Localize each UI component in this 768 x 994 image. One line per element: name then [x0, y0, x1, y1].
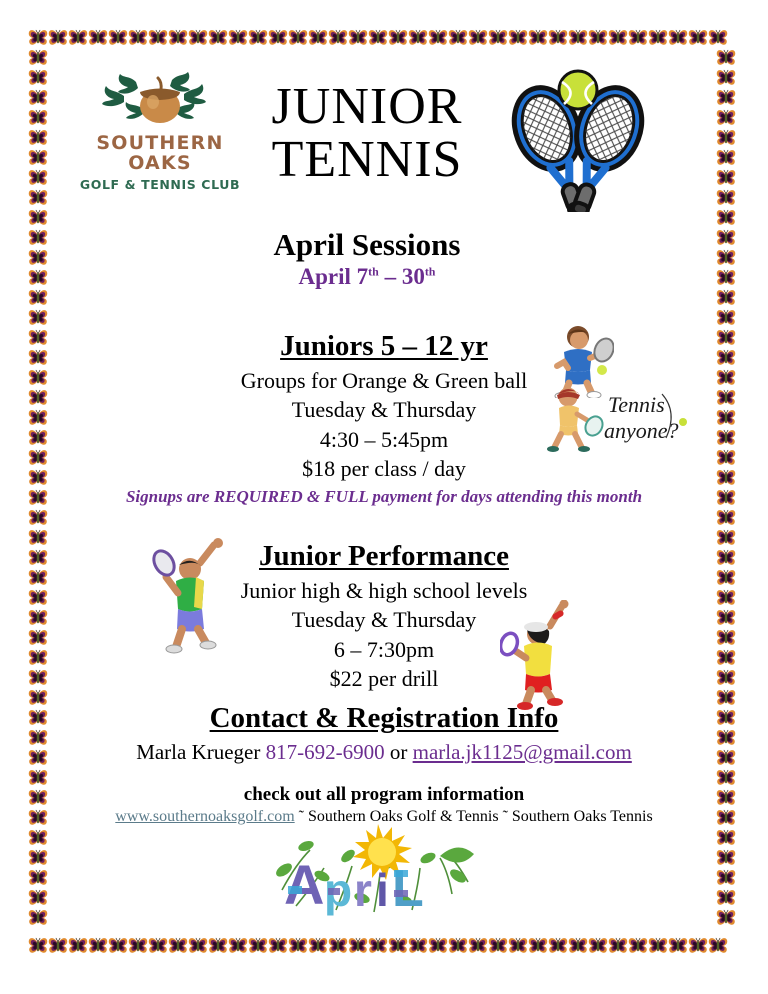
butterfly-icon [28, 868, 48, 888]
butterfly-icon [716, 268, 736, 288]
butterfly-icon [716, 228, 736, 248]
contact-phone[interactable]: 817-692-6900 [266, 740, 385, 764]
butterfly-icon [28, 308, 48, 328]
butterfly-icon [28, 588, 48, 608]
butterfly-icon [268, 936, 288, 956]
butterfly-icon [28, 188, 48, 208]
butterfly-icon [168, 28, 188, 48]
male-tennis-server-icon [150, 537, 226, 655]
butterfly-icon [28, 148, 48, 168]
butterfly-icon [716, 728, 736, 748]
butterfly-icon [648, 28, 668, 48]
butterfly-icon [716, 668, 736, 688]
butterfly-icon [28, 668, 48, 688]
butterfly-icon [28, 768, 48, 788]
svg-text:r: r [354, 864, 372, 916]
butterfly-border-top [28, 28, 736, 48]
flyer-content: SOUTHERN OAKS GOLF & TENNIS CLUB [52, 52, 716, 934]
butterfly-icon [716, 848, 736, 868]
butterfly-icon [716, 688, 736, 708]
butterfly-icon [368, 936, 388, 956]
butterfly-icon [488, 936, 508, 956]
butterfly-icon [328, 28, 348, 48]
butterfly-icon [716, 328, 736, 348]
butterfly-border-left [28, 48, 48, 936]
butterfly-icon [308, 936, 328, 956]
butterfly-icon [716, 248, 736, 268]
section-performance-line-4: $22 per drill [52, 664, 716, 693]
butterfly-icon [68, 28, 88, 48]
butterfly-icon [88, 936, 108, 956]
butterfly-icon [28, 288, 48, 308]
butterfly-icon [488, 28, 508, 48]
butterfly-icon [28, 808, 48, 828]
butterfly-icon [248, 936, 268, 956]
butterfly-icon [548, 28, 568, 48]
butterfly-icon [28, 28, 48, 48]
april-word-art-icon: A p r i L [262, 820, 492, 918]
butterfly-icon [716, 48, 736, 68]
butterfly-icon [208, 28, 228, 48]
butterfly-icon [148, 28, 168, 48]
butterfly-icon [716, 128, 736, 148]
butterfly-icon [716, 548, 736, 568]
butterfly-icon [28, 388, 48, 408]
butterfly-icon [716, 788, 736, 808]
butterfly-icon [388, 936, 408, 956]
butterfly-icon [716, 468, 736, 488]
butterfly-icon [28, 408, 48, 428]
page-title: JUNIOR TENNIS [202, 80, 532, 186]
butterfly-icon [28, 68, 48, 88]
butterfly-icon [28, 208, 48, 228]
butterfly-icon [208, 936, 228, 956]
butterfly-icon [248, 28, 268, 48]
butterfly-icon [708, 28, 728, 48]
butterfly-icon [28, 128, 48, 148]
butterfly-icon [716, 568, 736, 588]
contact-conjunction: or [385, 740, 413, 764]
butterfly-icon [28, 488, 48, 508]
title-line-1: JUNIOR [202, 80, 532, 133]
butterfly-icon [716, 808, 736, 828]
butterfly-icon [688, 28, 708, 48]
butterfly-icon [448, 28, 468, 48]
program-info-heading: check out all program information [52, 784, 716, 806]
svg-text:anyone?: anyone? [604, 418, 679, 443]
butterfly-icon [716, 828, 736, 848]
butterfly-icon [28, 448, 48, 468]
butterfly-icon [28, 428, 48, 448]
butterfly-icon [716, 148, 736, 168]
butterfly-icon [716, 608, 736, 628]
butterfly-icon [48, 28, 68, 48]
butterfly-icon [348, 936, 368, 956]
butterfly-icon [716, 88, 736, 108]
butterfly-icon [716, 408, 736, 428]
butterfly-icon [528, 936, 548, 956]
butterfly-icon [28, 248, 48, 268]
contact-heading: Contact & Registration Info [52, 702, 716, 735]
butterfly-icon [348, 28, 368, 48]
female-tennis-server-icon [500, 600, 586, 710]
butterfly-icon [468, 28, 488, 48]
butterfly-icon [716, 888, 736, 908]
butterfly-icon [28, 108, 48, 128]
butterfly-icon [428, 936, 448, 956]
butterfly-icon [188, 936, 208, 956]
section-contact: Contact & Registration Info Marla Kruege… [52, 702, 716, 826]
butterfly-icon [408, 936, 428, 956]
butterfly-icon [548, 936, 568, 956]
butterfly-icon [28, 228, 48, 248]
butterfly-icon [508, 936, 528, 956]
butterfly-icon [28, 888, 48, 908]
butterfly-icon [28, 328, 48, 348]
butterfly-icon [28, 468, 48, 488]
butterfly-icon [28, 548, 48, 568]
butterfly-icon [628, 936, 648, 956]
butterfly-icon [528, 28, 548, 48]
tennis-anyone-icon: Tennis anyone? [542, 382, 694, 454]
butterfly-icon [108, 28, 128, 48]
butterfly-icon [716, 428, 736, 448]
butterfly-icon [28, 88, 48, 108]
butterfly-icon [608, 28, 628, 48]
butterfly-icon [716, 108, 736, 128]
butterfly-icon [568, 936, 588, 956]
butterfly-icon [28, 936, 48, 956]
butterfly-icon [668, 936, 688, 956]
butterfly-icon [608, 936, 628, 956]
butterfly-icon [716, 628, 736, 648]
butterfly-icon [716, 208, 736, 228]
butterfly-icon [188, 28, 208, 48]
butterfly-icon [716, 768, 736, 788]
butterfly-icon [628, 28, 648, 48]
butterfly-icon [648, 936, 668, 956]
butterfly-icon [668, 28, 688, 48]
butterfly-icon [288, 936, 308, 956]
butterfly-icon [28, 708, 48, 728]
flyer-subtitle: April Sessions [172, 227, 562, 263]
butterfly-icon [28, 48, 48, 68]
butterfly-icon [588, 28, 608, 48]
butterfly-icon [716, 648, 736, 668]
butterfly-icon [716, 168, 736, 188]
butterfly-icon [716, 368, 736, 388]
butterfly-icon [28, 268, 48, 288]
section-juniors-line-4: $18 per class / day [52, 454, 716, 483]
butterfly-icon [688, 936, 708, 956]
butterfly-icon [288, 28, 308, 48]
section-juniors-heading: Juniors 5 – 12 yr [52, 330, 716, 363]
date-range-prefix: April 7 [299, 264, 369, 289]
butterfly-icon [28, 528, 48, 548]
butterfly-icon [228, 28, 248, 48]
contact-person-line: Marla Krueger 817-692-6900 or marla.jk11… [52, 738, 716, 766]
butterfly-icon [716, 348, 736, 368]
butterfly-icon [716, 188, 736, 208]
butterfly-icon [448, 936, 468, 956]
butterfly-icon [148, 936, 168, 956]
contact-person-name: Marla Krueger [136, 740, 265, 764]
butterfly-icon [468, 936, 488, 956]
session-date-range: April 7th – 30th [172, 264, 562, 290]
butterfly-icon [28, 568, 48, 588]
butterfly-icon [716, 308, 736, 328]
butterfly-icon [28, 828, 48, 848]
butterfly-icon [716, 708, 736, 728]
butterfly-icon [28, 648, 48, 668]
butterfly-icon [716, 488, 736, 508]
date-range-sup-2: th [425, 264, 436, 278]
butterfly-border-bottom [28, 936, 736, 956]
butterfly-border-right [716, 48, 736, 936]
butterfly-icon [108, 936, 128, 956]
butterfly-icon [28, 748, 48, 768]
butterfly-icon [268, 28, 288, 48]
butterfly-icon [328, 936, 348, 956]
butterfly-icon [28, 508, 48, 528]
butterfly-icon [68, 936, 88, 956]
butterfly-icon [716, 448, 736, 468]
butterfly-icon [508, 28, 528, 48]
tennis-anyone-text: Tennis [608, 392, 665, 417]
butterfly-icon [128, 28, 148, 48]
april-letter-a: A [284, 853, 324, 916]
contact-email-link[interactable]: marla.jk1125@gmail.com [413, 740, 632, 764]
butterfly-icon [716, 588, 736, 608]
title-line-2: TENNIS [202, 133, 532, 186]
butterfly-icon [708, 936, 728, 956]
butterfly-icon [228, 936, 248, 956]
butterfly-icon [88, 28, 108, 48]
date-range-sup-1: th [368, 264, 379, 278]
flyer-page: SOUTHERN OAKS GOLF & TENNIS CLUB [0, 0, 768, 994]
butterfly-icon [716, 868, 736, 888]
butterfly-icon [28, 628, 48, 648]
butterfly-icon [716, 68, 736, 88]
butterfly-icon [368, 28, 388, 48]
butterfly-icon [28, 688, 48, 708]
butterfly-icon [28, 788, 48, 808]
section-juniors-note: Signups are REQUIRED & FULL payment for … [52, 487, 716, 507]
butterfly-icon [28, 908, 48, 928]
butterfly-icon [28, 728, 48, 748]
date-range-middle: – 30 [379, 264, 425, 289]
butterfly-icon [28, 608, 48, 628]
butterfly-icon [568, 28, 588, 48]
butterfly-icon [28, 368, 48, 388]
butterfly-icon [408, 28, 428, 48]
butterfly-icon [388, 28, 408, 48]
butterfly-icon [48, 936, 68, 956]
butterfly-icon [428, 28, 448, 48]
butterfly-icon [588, 936, 608, 956]
butterfly-icon [716, 528, 736, 548]
butterfly-icon [168, 936, 188, 956]
svg-text:L: L [392, 860, 424, 918]
butterfly-icon [716, 288, 736, 308]
butterfly-icon [128, 936, 148, 956]
butterfly-icon [716, 508, 736, 528]
butterfly-icon [28, 348, 48, 368]
butterfly-icon [716, 908, 736, 928]
butterfly-icon [308, 28, 328, 48]
butterfly-icon [716, 748, 736, 768]
butterfly-icon [716, 388, 736, 408]
svg-text:i: i [376, 864, 389, 916]
butterfly-icon [28, 168, 48, 188]
butterfly-icon [28, 848, 48, 868]
